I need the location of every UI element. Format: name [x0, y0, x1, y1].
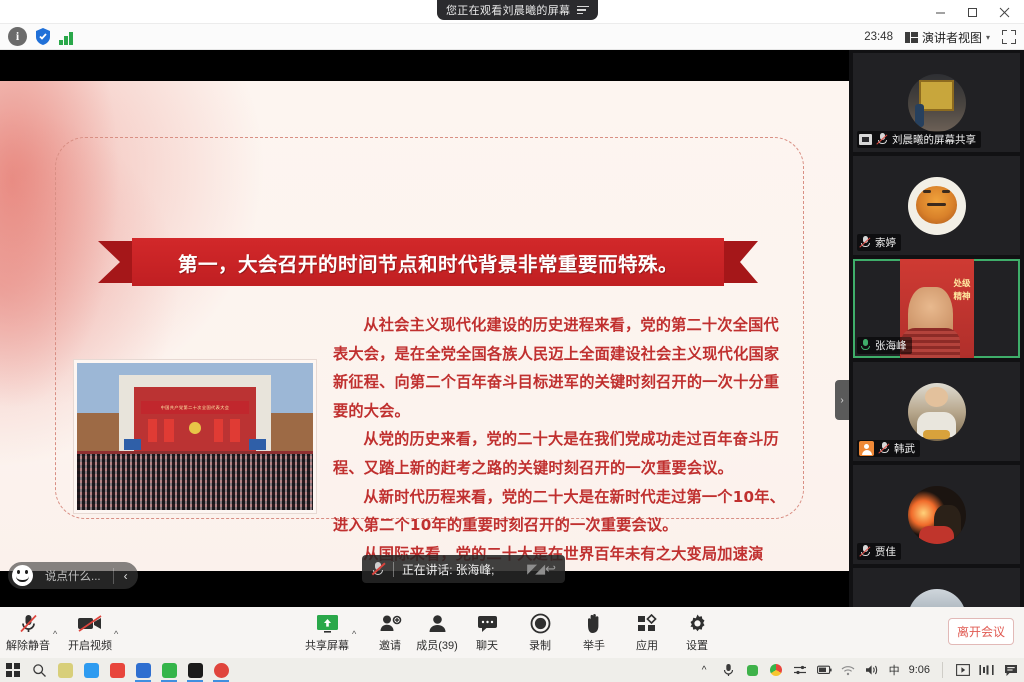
ime-indicator[interactable]: 中	[889, 662, 900, 678]
avatar	[908, 177, 966, 235]
info-icon[interactable]: i	[8, 27, 27, 46]
meeting-toolbar: 解除静音 ^ 开启视频 ^ 共享屏幕 ^ 邀请 成员(3	[0, 607, 1024, 658]
toolbar-participants-button[interactable]: 成员(39)	[409, 612, 465, 653]
toolbar-label: 共享屏幕	[305, 637, 349, 653]
avatar-image	[908, 383, 966, 441]
toolbar-apps-button[interactable]: 应用	[619, 612, 675, 653]
taskbar-app-onedrive[interactable]	[78, 658, 104, 682]
photo-flag-right2	[214, 419, 223, 443]
toolbar-label: 录制	[529, 637, 551, 653]
participant-name: 张海峰	[875, 338, 907, 353]
mic-on-icon	[859, 339, 871, 352]
slide-body-text: 从社会主义现代化建设的历史进程来看，党的第二十次全国代表大会，是在全党全国各族人…	[333, 311, 785, 571]
participant-nameplate: 韩武	[857, 440, 920, 457]
active-speaker-label: 正在讲话: 张海峰;	[402, 561, 519, 578]
speaker-view-icon	[905, 32, 918, 43]
photo-screen-left	[124, 439, 141, 449]
reaction-divider	[113, 568, 114, 584]
video-options-caret[interactable]: ^	[114, 629, 118, 639]
media-play-icon[interactable]	[955, 662, 970, 678]
shared-screen-stage[interactable]: 第一，大会召开的时间节点和时代背景非常重要而特殊。 中国共产党第二十次全国代表大…	[0, 50, 849, 607]
taskbar-app-rec[interactable]	[208, 658, 234, 682]
photo-audience-seats	[77, 454, 313, 510]
mute-options-caret[interactable]: ^	[53, 629, 57, 639]
slide-title-ribbon: 第一，大会召开的时间节点和时代背景非常重要而特殊。	[98, 238, 758, 286]
ribbon-bar: 第一，大会召开的时间节点和时代背景非常重要而特殊。	[132, 238, 724, 286]
participant-name: 贾佳	[875, 544, 896, 559]
options-menu-icon[interactable]	[577, 6, 589, 15]
reaction-input-bar[interactable]: 说点什么... ‹	[8, 562, 138, 589]
windows-taskbar: ^ 中 9:06	[0, 658, 1024, 682]
tray-divider	[942, 662, 943, 678]
avatar	[908, 383, 966, 441]
security-shield-icon[interactable]	[34, 27, 52, 46]
close-button[interactable]	[988, 1, 1020, 23]
active-speaker-indicator: 正在讲话: 张海峰; ◤◢ ↩	[362, 555, 565, 583]
windows-start-icon[interactable]	[0, 658, 26, 682]
photo-banner: 中国共产党第二十次全国代表大会	[141, 401, 250, 414]
panel-collapse-handle[interactable]: ›	[835, 380, 849, 420]
speaking-divider	[393, 562, 394, 577]
toolbar-share-button[interactable]: 共享屏幕	[299, 612, 355, 653]
avatar-image	[908, 74, 966, 132]
toolbar-label: 聊天	[476, 637, 498, 653]
screen-share-notice[interactable]: 您正在观看刘晨曦的屏幕	[437, 0, 598, 20]
chat-icon	[477, 612, 498, 635]
meeting-meta-bar: i 23:48 演讲者视图 ▾	[0, 24, 1024, 50]
participant-tile[interactable]: 韩武	[853, 362, 1020, 461]
toolbar-label: 设置	[686, 637, 708, 653]
meta-left-icons: i	[8, 27, 77, 46]
volume-icon[interactable]	[865, 662, 880, 678]
meeting-clock: 23:48	[864, 31, 893, 43]
photo-banner-text: 中国共产党第二十次全国代表大会	[161, 405, 230, 411]
invite-user-icon	[379, 612, 402, 635]
audio-wave-glyph: ◤◢	[527, 561, 543, 577]
toolbar-mute-button[interactable]: 解除静音	[0, 612, 56, 653]
slide-title: 第一，大会召开的时间节点和时代背景非常重要而特殊。	[178, 248, 678, 277]
equalizer-icon[interactable]	[979, 662, 994, 678]
smiley-icon[interactable]	[12, 565, 33, 586]
toolbar-video-button[interactable]: 开启视频	[62, 612, 118, 653]
mic-muted-icon	[18, 612, 39, 635]
toolbar-record-button[interactable]: 录制	[512, 612, 568, 653]
participant-tile[interactable]: 刘晨曦的屏幕共享	[853, 53, 1020, 152]
tray-overflow-caret[interactable]: ^	[697, 662, 712, 678]
participant-nameplate: 索婷	[857, 234, 901, 251]
battery-icon[interactable]	[817, 662, 832, 678]
network-transfer-icon[interactable]	[793, 662, 808, 678]
leave-meeting-button[interactable]: 离开会议	[948, 618, 1014, 645]
toolbar-label: 开启视频	[68, 637, 112, 653]
photo-flag-left2	[164, 419, 173, 443]
undo-icon[interactable]: ↩	[545, 561, 556, 577]
taskbar-clock[interactable]: 9:06	[909, 664, 930, 676]
reaction-input[interactable]: 说点什么...	[37, 568, 109, 584]
presentation-slide: 第一，大会召开的时间节点和时代背景非常重要而特殊。 中国共产党第二十次全国代表大…	[0, 81, 849, 571]
participant-name: 索婷	[875, 235, 896, 250]
participants-icon	[427, 612, 448, 635]
mic-muted-icon	[371, 561, 385, 577]
taskbar-app-blue[interactable]	[130, 658, 156, 682]
video-background-text: 处级精神	[953, 277, 970, 303]
toolbar-label: 举手	[583, 637, 605, 653]
photo-flag-right	[230, 419, 239, 443]
notifications-icon[interactable]	[1003, 662, 1018, 678]
taskbar-app-1[interactable]	[52, 658, 78, 682]
chevron-left-icon[interactable]: ‹	[118, 569, 134, 583]
toolbar-label: 成员(39)	[416, 637, 458, 653]
avatar-image	[908, 177, 966, 235]
toolbar-settings-button[interactable]: 设置	[669, 612, 725, 653]
meta-right-controls: 23:48 演讲者视图 ▾	[864, 24, 1016, 50]
apps-icon	[637, 612, 658, 635]
host-badge-icon	[859, 441, 874, 456]
minimize-button[interactable]	[924, 1, 956, 23]
window-title-bar: 您正在观看刘晨曦的屏幕	[0, 0, 1024, 24]
share-screen-icon	[316, 612, 339, 635]
green-tray-icon[interactable]	[745, 662, 760, 678]
participant-tile[interactable]: ⌄	[853, 568, 1020, 607]
taskbar-app-wps[interactable]	[182, 658, 208, 682]
toolbar-chat-button[interactable]: 聊天	[459, 612, 515, 653]
participant-tile[interactable]: 处级精神 张海峰	[853, 259, 1020, 358]
avatar	[908, 486, 966, 544]
system-tray: ^ 中 9:06	[697, 662, 1024, 678]
view-mode-selector[interactable]: 演讲者视图 ▾	[905, 29, 990, 46]
slide-paragraph-1: 从社会主义现代化建设的历史进程来看，党的第二十次全国代表大会，是在全党全国各族人…	[333, 311, 785, 425]
leave-meeting-label: 离开会议	[957, 623, 1005, 640]
ribbon-tail-right	[718, 241, 758, 283]
record-icon	[530, 612, 551, 635]
raise-hand-icon	[585, 612, 604, 635]
maximize-button[interactable]	[956, 1, 988, 23]
chevron-right-icon: ›	[840, 395, 843, 406]
mic-muted-icon	[878, 442, 890, 455]
mic-muted-icon	[859, 236, 871, 249]
zoom-meeting-window: 您正在观看刘晨曦的屏幕 i 23:48	[0, 0, 1024, 682]
video-off-icon	[77, 612, 103, 635]
photo-screen-right	[249, 439, 266, 449]
avatar-image	[908, 486, 966, 544]
screen-share-notice-label: 您正在观看刘晨曦的屏幕	[446, 2, 570, 18]
fullscreen-icon[interactable]	[1002, 30, 1016, 44]
network-signal-icon[interactable]	[59, 29, 77, 45]
search-icon[interactable]	[26, 658, 52, 682]
participant-nameplate: 贾佳	[857, 543, 901, 560]
chrome-tray-icon[interactable]	[769, 662, 784, 678]
participant-nameplate: 张海峰	[857, 337, 912, 354]
avatar-image	[908, 589, 966, 608]
chevron-down-icon: ▾	[986, 33, 990, 42]
photo-emblem	[189, 422, 201, 434]
mic-tray-icon[interactable]	[721, 662, 736, 678]
participant-filmstrip[interactable]: 刘晨曦的屏幕共享 索婷 处级精神	[849, 50, 1024, 607]
avatar	[908, 589, 966, 608]
share-options-caret[interactable]: ^	[352, 629, 356, 639]
view-mode-label: 演讲者视图	[922, 29, 982, 46]
slide-paragraph-2: 从党的历史来看，党的二十大是在我们党成功走过百年奋斗历程、又踏上新的赶考之路的关…	[333, 425, 785, 482]
gear-icon	[687, 612, 708, 635]
mic-muted-icon	[876, 133, 888, 146]
slide-photo: 中国共产党第二十次全国代表大会	[74, 360, 316, 513]
participant-name: 韩武	[894, 441, 915, 456]
toolbar-label: 应用	[636, 637, 658, 653]
toolbar-label: 解除静音	[6, 637, 50, 653]
participant-nameplate: 刘晨曦的屏幕共享	[857, 131, 981, 148]
screen-share-icon	[859, 134, 872, 145]
participant-name: 刘晨曦的屏幕共享	[892, 132, 976, 147]
slide-paragraph-3: 从新时代历程来看，党的二十大是在新时代走过第一个10年、进入第二个10年的重要时…	[333, 483, 785, 540]
toolbar-label: 邀请	[379, 637, 401, 653]
audio-wave-icon: ◤◢ ↩	[527, 561, 556, 577]
taskbar-app-red[interactable]	[104, 658, 130, 682]
avatar	[908, 74, 966, 132]
taskbar-app-green[interactable]	[156, 658, 182, 682]
photo-flag-left	[148, 419, 157, 443]
participant-tile[interactable]: 索婷	[853, 156, 1020, 255]
window-controls	[924, 0, 1020, 24]
mic-muted-icon	[859, 545, 871, 558]
wifi-icon[interactable]	[841, 662, 856, 678]
toolbar-raise-hand-button[interactable]: 举手	[566, 612, 622, 653]
participant-tile[interactable]: 贾佳	[853, 465, 1020, 564]
